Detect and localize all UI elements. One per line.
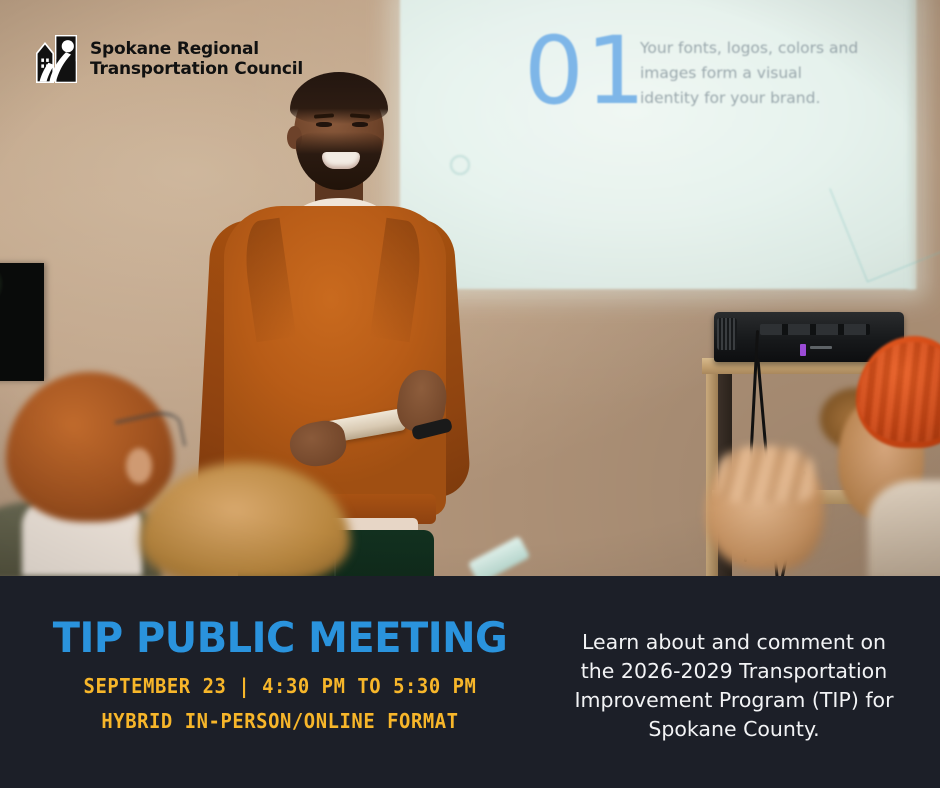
projector-indicator-light: [800, 344, 806, 356]
presenter-smile: [322, 152, 360, 169]
presenter-right-eye: [352, 122, 368, 127]
banner-left-column: TIP PUBLIC MEETING SEPTEMBER 23 | 4:30 P…: [0, 576, 560, 731]
projector-ports: [760, 324, 870, 335]
info-banner: TIP PUBLIC MEETING SEPTEMBER 23 | 4:30 P…: [0, 576, 940, 788]
event-date-time: SEPTEMBER 23 | 4:30 PM TO 5:30 PM: [22, 676, 537, 697]
logo-wordmark: Spokane Regional Transportation Council: [90, 39, 303, 79]
event-headline: TIP PUBLIC MEETING: [14, 617, 546, 659]
projector-vent: [717, 318, 737, 350]
audience-hand-fingers: [718, 446, 814, 502]
srtc-logo-mark-icon: [33, 33, 79, 85]
event-poster: 01 Your fonts, logos, colors and images …: [0, 0, 940, 788]
event-format: HYBRID IN-PERSON/ONLINE FORMAT: [22, 711, 537, 732]
monitor-reflection: [0, 272, 4, 302]
audience-beanie-shoulder: [868, 480, 940, 576]
event-description: Learn about and comment on the 2026-2029…: [566, 628, 902, 744]
logo-line-2: Transportation Council: [90, 59, 303, 79]
wall-monitor: [0, 263, 44, 381]
logo-line-1: Spokane Regional: [90, 39, 303, 59]
presenter-hair: [290, 72, 388, 124]
organization-logo: Spokane Regional Transportation Council: [33, 33, 303, 85]
projector-indicator-row: [810, 346, 832, 349]
slide-number: 01: [524, 25, 648, 119]
presenter-left-eye: [316, 122, 332, 127]
slide-body-text: Your fonts, logos, colors and images for…: [640, 36, 860, 111]
hero-photo: 01 Your fonts, logos, colors and images …: [0, 0, 940, 576]
